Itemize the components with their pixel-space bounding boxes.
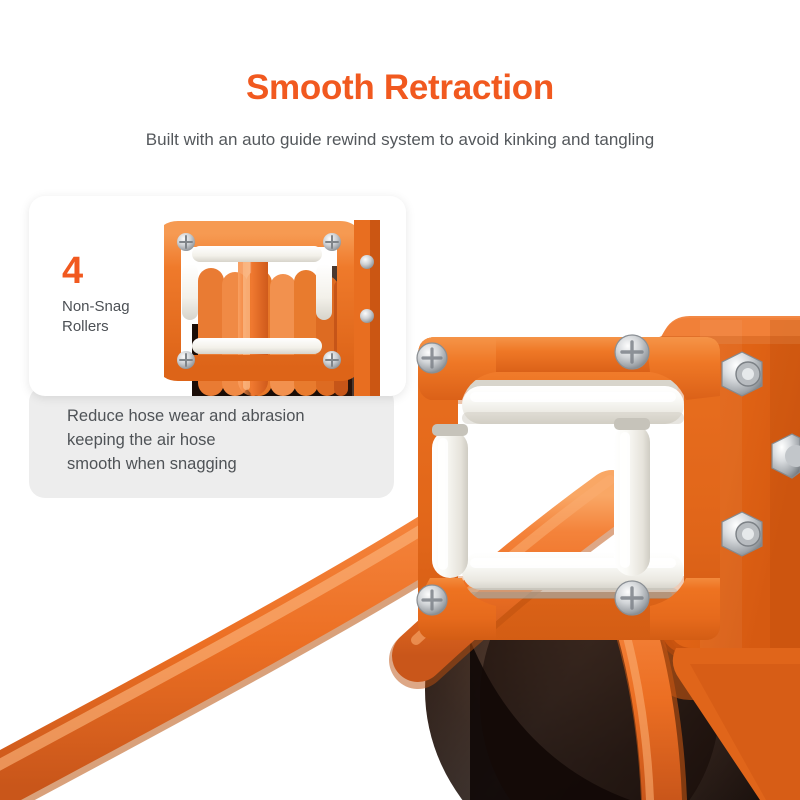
page-title: Smooth Retraction (0, 66, 800, 110)
callout-description-text: Reduce hose wear and abrasion keeping th… (67, 404, 377, 476)
callout-feature-label: Non-Snag Rollers (62, 297, 130, 337)
callout-card-body: 4 Non-Snag Rollers (29, 196, 406, 396)
hex-bolt-top (722, 352, 762, 396)
roller-right (614, 418, 650, 576)
callout-count: 4 (62, 252, 83, 290)
product-feature-page: Smooth Retraction Built with an auto gui… (0, 0, 800, 800)
screw-top-left (417, 343, 447, 373)
callout-inset-photo (164, 220, 406, 396)
roller-bottom (462, 552, 684, 599)
feature-callout-card: 4 Non-Snag Rollers (29, 196, 406, 498)
roller-left (432, 424, 468, 578)
screw-bottom-left (417, 585, 447, 615)
hex-bolt-bottom (722, 512, 762, 556)
roller-top (462, 380, 684, 424)
screw-top-right (615, 335, 649, 369)
screw-bottom-right (615, 581, 649, 615)
page-subtitle: Built with an auto guide rewind system t… (0, 127, 800, 153)
